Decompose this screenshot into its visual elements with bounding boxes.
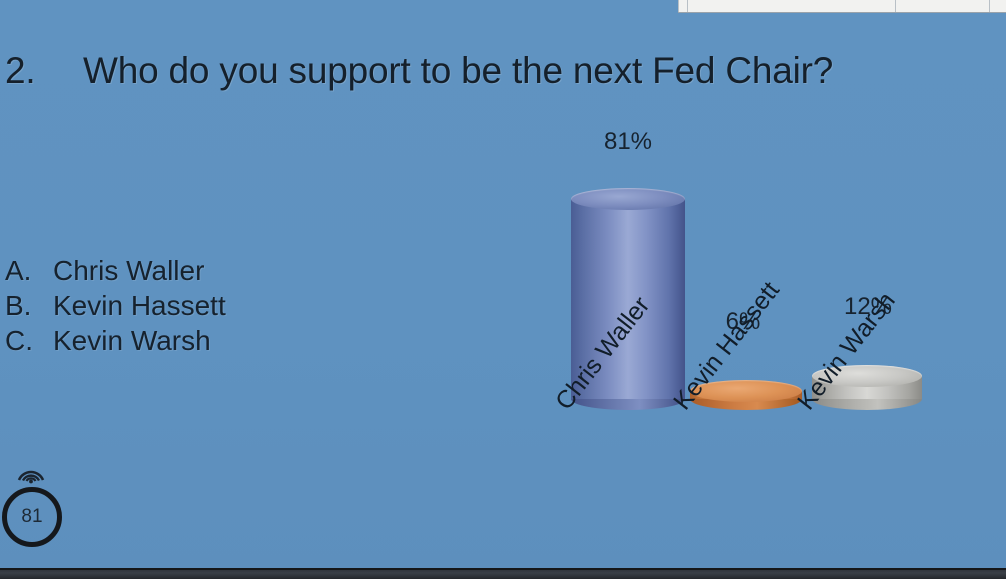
question-text: Who do you support to be the next Fed Ch… [83,50,833,92]
toolbar-cell-3 [896,0,990,12]
top-toolbar-strip [678,0,1006,13]
answer-option-a[interactable]: A. Chris Waller [5,253,226,288]
answer-option-b-key: B. [5,288,53,323]
answer-options-list: A. Chris Waller B. Kevin Hassett C. Kevi… [5,253,226,358]
toolbar-cell-2 [687,0,896,12]
bottom-letterbox-bar [0,568,1006,579]
answer-option-b[interactable]: B. Kevin Hassett [5,288,226,323]
poll-slide: 2. Who do you support to be the next Fed… [0,0,1006,579]
poll-results-chart: 81% Chris Waller 6% Kevin Hassett 12% Ke… [520,110,990,410]
answer-option-a-label: Chris Waller [53,253,204,288]
response-count-badge: 81 [2,487,68,553]
answer-option-c-label: Kevin Warsh [53,323,211,358]
bar-value-label-0: 81% [578,128,678,156]
answer-option-c[interactable]: C. Kevin Warsh [5,323,226,358]
question-heading: 2. Who do you support to be the next Fed… [5,50,955,92]
signal-icon [15,461,47,485]
answer-option-a-key: A. [5,253,53,288]
response-count: 81 [2,487,62,547]
question-number: 2. [5,50,83,92]
answer-option-c-key: C. [5,323,53,358]
bar-cap-0 [571,188,685,210]
answer-option-b-label: Kevin Hassett [53,288,226,323]
